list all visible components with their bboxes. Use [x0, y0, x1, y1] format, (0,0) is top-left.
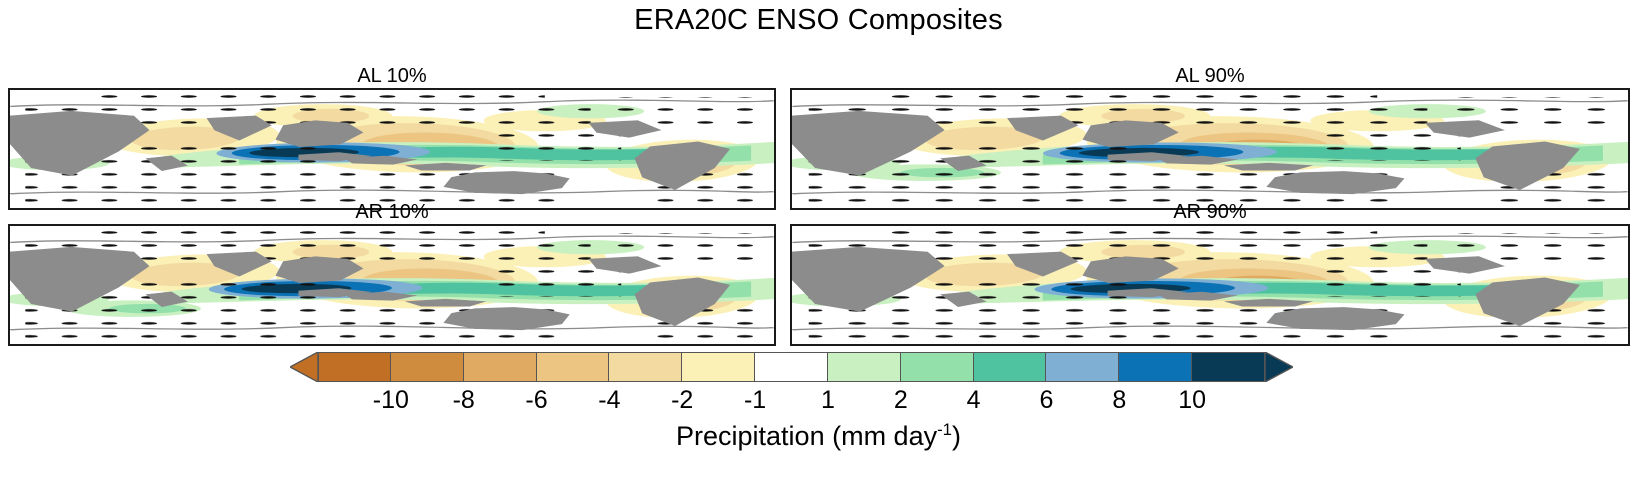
- panel-ar10: AR 10%: [8, 200, 776, 346]
- colorbar-swatch-7: [828, 352, 901, 382]
- colorbar-tick--8: -8: [453, 386, 475, 415]
- map-field: [792, 226, 1628, 344]
- colorbar-tick-8: 8: [1112, 386, 1126, 415]
- colorbar-tick--1: -1: [744, 386, 766, 415]
- colorbar-swatch-1: [391, 352, 464, 382]
- colorbar-swatch-12: [1192, 352, 1265, 382]
- colorbar-axis-label: Precipitation (mm day-1): [0, 420, 1637, 452]
- colorbar-arrow-low: [290, 352, 318, 382]
- map-canvas-al90: [792, 90, 1628, 208]
- panel-ar90: AR 90%: [790, 200, 1630, 346]
- colorbar-swatch-11: [1119, 352, 1192, 382]
- colorbar-tick--2: -2: [671, 386, 693, 415]
- map-canvas-ar90: [792, 226, 1628, 344]
- figure-root: ERA20C ENSO Composites AL 10% AL 90% AR …: [0, 0, 1637, 480]
- colorbar-swatch-0: [318, 352, 391, 382]
- colorbar-tick-4: 4: [967, 386, 981, 415]
- colorbar-tick--6: -6: [525, 386, 547, 415]
- colorbar-swatch-9: [974, 352, 1047, 382]
- panel-title-ar10: AR 10%: [8, 200, 776, 224]
- panel-title-ar90: AR 90%: [790, 200, 1630, 224]
- map-canvas-al10: [10, 90, 774, 208]
- colorbar-tick--10: -10: [373, 386, 409, 415]
- colorbar-swatch-8: [901, 352, 974, 382]
- colorbar-arrow-high: [1265, 352, 1293, 382]
- panel-title-al90: AL 90%: [790, 64, 1630, 88]
- colorbar-swatch-5: [682, 352, 755, 382]
- colorbar-swatch-10: [1046, 352, 1119, 382]
- map-field: [10, 90, 774, 208]
- colorbar-axis-label-exponent: -1: [937, 420, 952, 439]
- colorbar-swatch-3: [537, 352, 610, 382]
- figure-title: ERA20C ENSO Composites: [0, 4, 1637, 37]
- map-canvas-ar10: [10, 226, 774, 344]
- panel-map-al90[interactable]: [790, 88, 1630, 210]
- colorbar-axis-label-text: Precipitation (mm day: [676, 421, 937, 451]
- colorbar-swatch-2: [464, 352, 537, 382]
- colorbar-tick--4: -4: [598, 386, 620, 415]
- colorbar-swatch-6: [755, 352, 828, 382]
- colorbar-tick-10: 10: [1178, 386, 1206, 415]
- colorbar-ticks: -10-8-6-4-2-11246810: [0, 386, 1637, 418]
- colorbar-swatches: [318, 352, 1265, 382]
- colorbar[interactable]: [318, 352, 1265, 382]
- colorbar-swatch-4: [609, 352, 682, 382]
- colorbar-axis-label-close: ): [952, 421, 961, 451]
- map-field: [792, 90, 1628, 208]
- panel-al10: AL 10%: [8, 64, 776, 210]
- colorbar-tick-1: 1: [821, 386, 835, 415]
- panel-map-al10[interactable]: [8, 88, 776, 210]
- panel-map-ar10[interactable]: [8, 224, 776, 346]
- colorbar-tick-6: 6: [1040, 386, 1054, 415]
- panel-map-ar90[interactable]: [790, 224, 1630, 346]
- panel-title-al10: AL 10%: [8, 64, 776, 88]
- colorbar-tick-2: 2: [894, 386, 908, 415]
- map-field: [10, 226, 774, 344]
- panel-al90: AL 90%: [790, 64, 1630, 210]
